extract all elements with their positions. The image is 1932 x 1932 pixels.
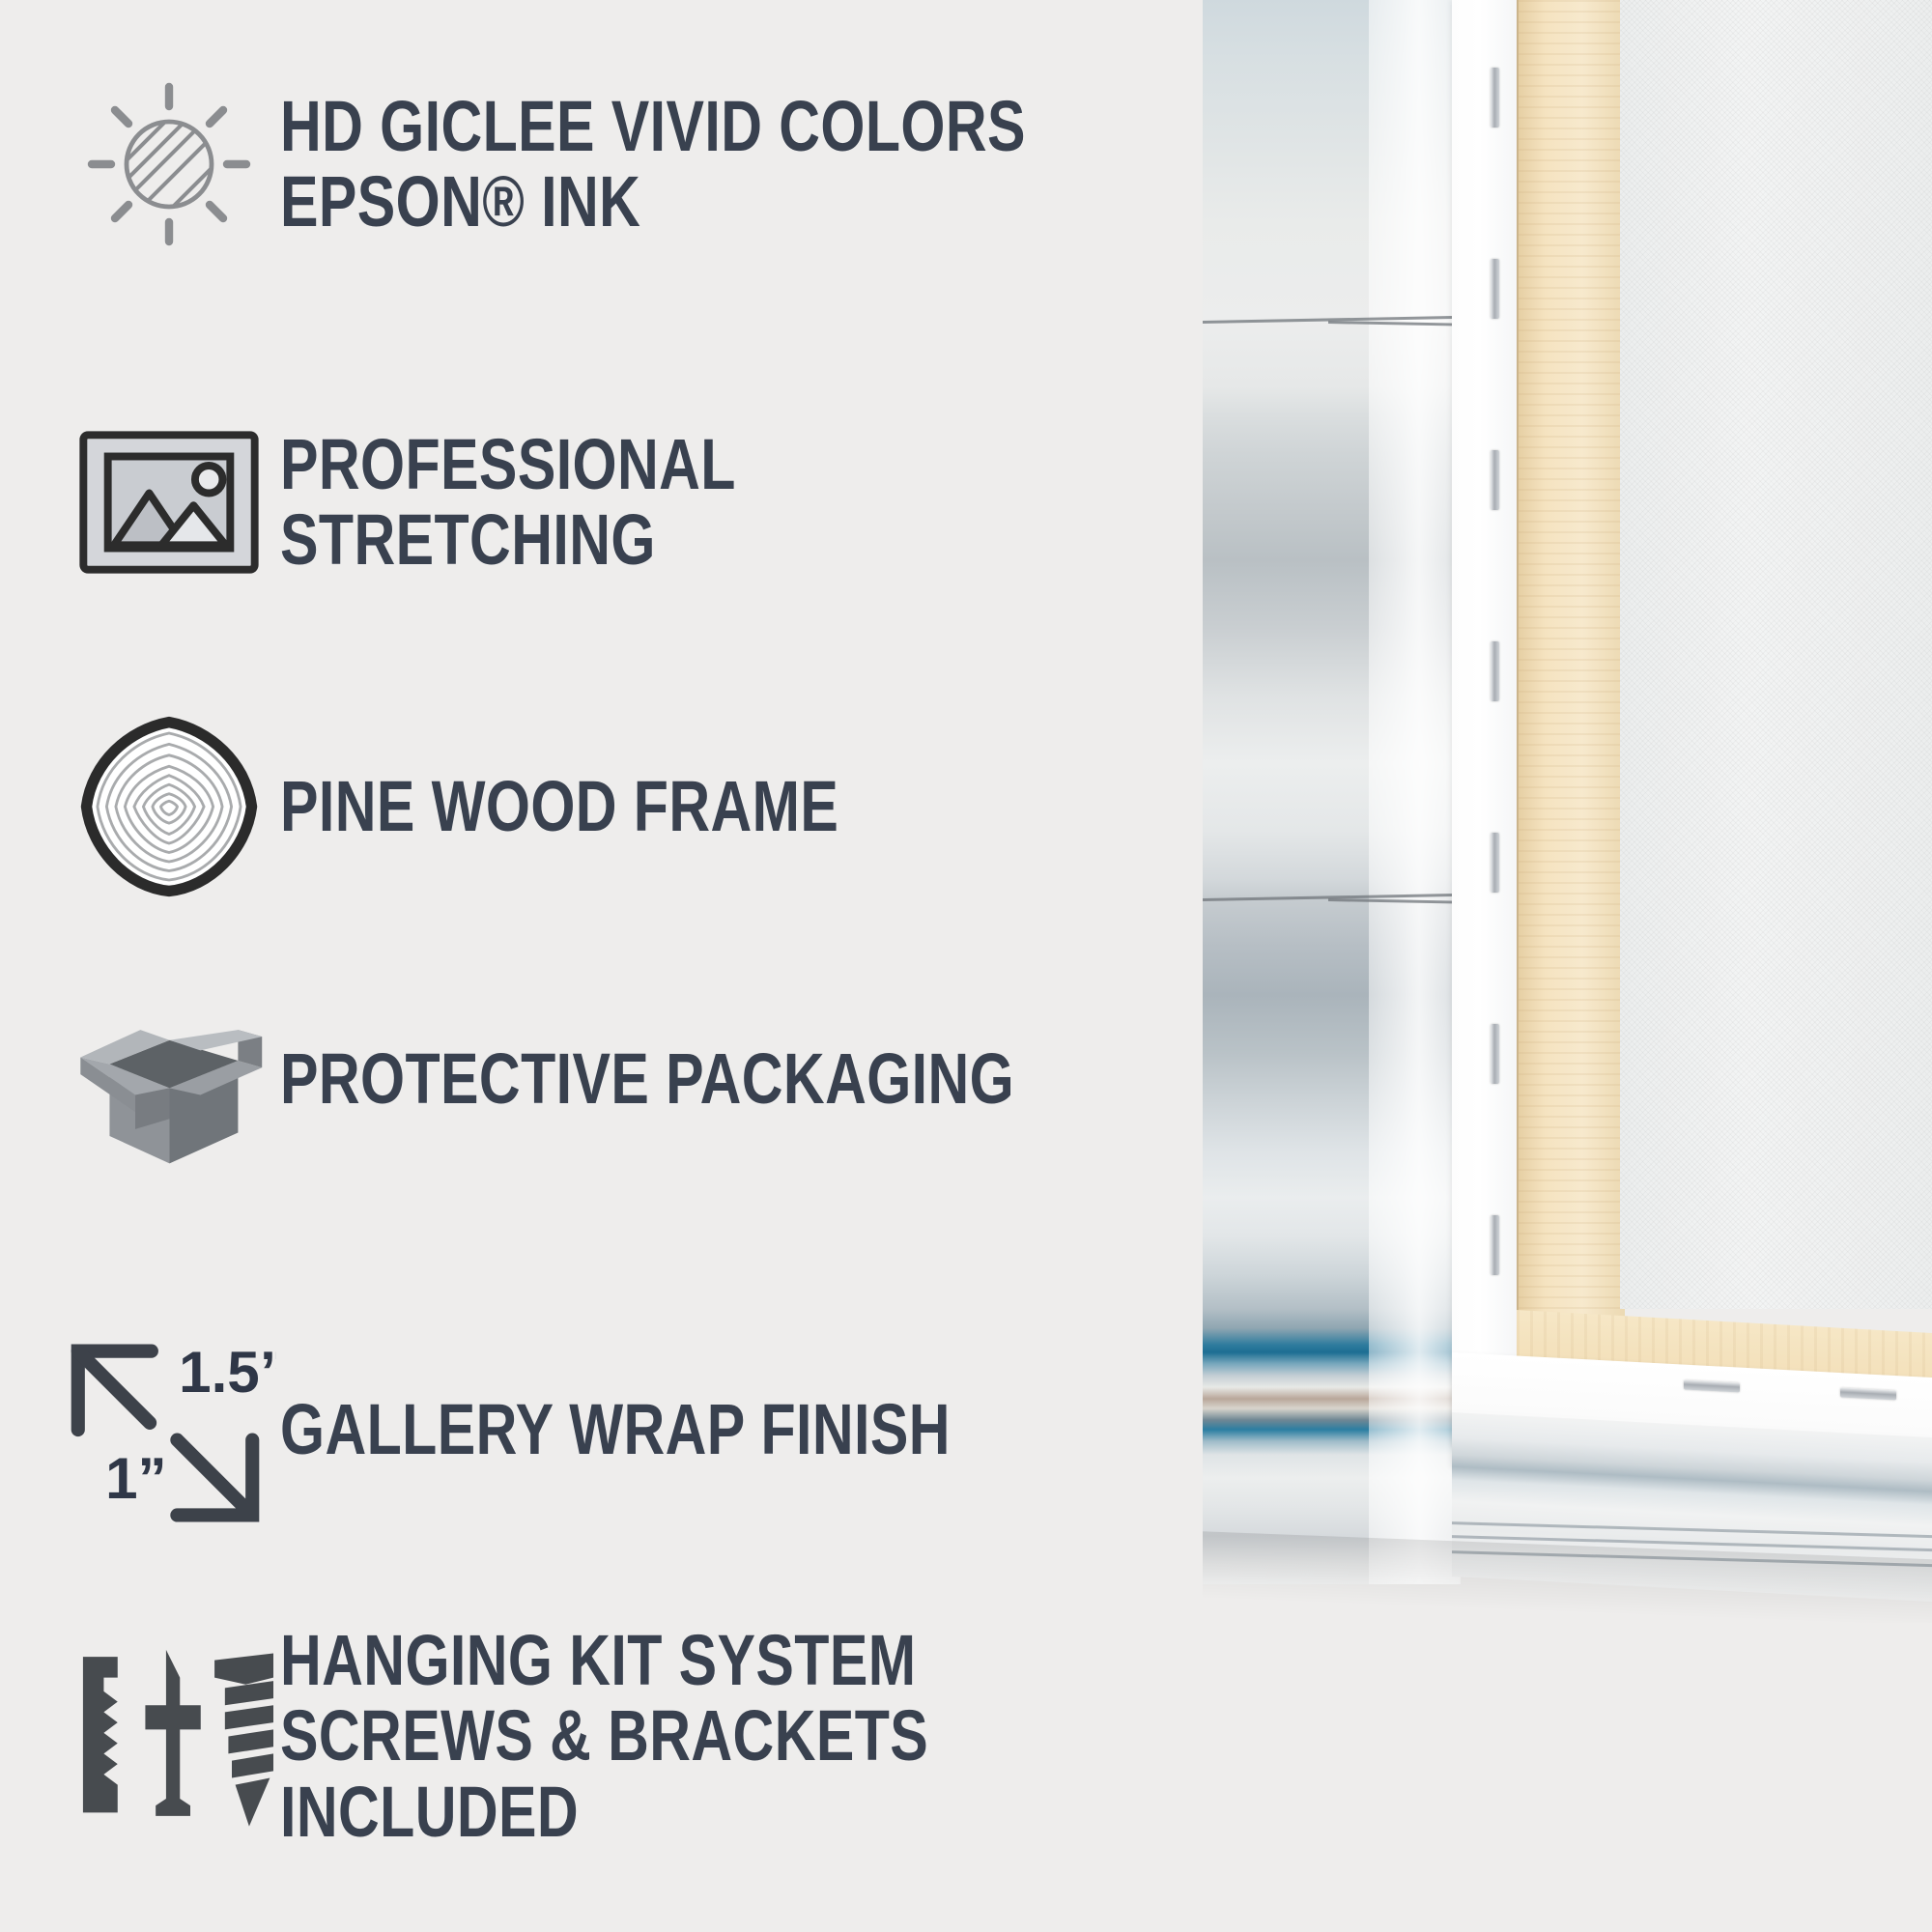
feature-label-packaging: PROTECTIVE PACKAGING	[280, 1041, 1014, 1117]
svg-text:1.5”: 1.5”	[179, 1340, 276, 1405]
feature-row-packaging: PROTECTIVE PACKAGING	[58, 985, 1198, 1174]
staple-icon	[1491, 259, 1499, 319]
framed-picture-icon	[58, 425, 280, 580]
svg-text:1”: 1”	[105, 1446, 167, 1511]
staple-icon	[1491, 1215, 1499, 1275]
staple-icon	[1491, 833, 1499, 893]
canvas-back-fabric	[1620, 0, 1932, 1309]
pine-stretcher-bar-vertical	[1517, 0, 1625, 1370]
feature-row-gallerywrap: 1.5” 1” GALLERY WRAP FINISH	[58, 1323, 1118, 1536]
feature-row-stretching: PROFESSIONAL STRETCHING	[58, 425, 1217, 580]
feature-label-gallerywrap: GALLERY WRAP FINISH	[280, 1392, 951, 1467]
feature-label-hangingkit: HANGING KIT SYSTEM SCREWS & BRACKETS INC…	[280, 1623, 1030, 1850]
tree-rings-icon	[58, 715, 280, 898]
sun-hatched-icon	[58, 68, 280, 261]
hanging-hardware-icon	[58, 1633, 280, 1840]
feature-label-giclee: HD GICLEE VIVID COLORS EPSON® INK	[280, 89, 1026, 241]
feature-label-pinewood: PINE WOOD FRAME	[280, 769, 838, 844]
staple-icon	[1491, 450, 1499, 510]
open-box-icon	[58, 985, 280, 1174]
staple-icon	[1491, 1024, 1499, 1084]
feature-label-stretching: PROFESSIONAL STRETCHING	[280, 427, 1030, 579]
feature-row-pinewood: PINE WOOD FRAME	[58, 715, 979, 898]
canvas-corner-facet	[1369, 0, 1461, 1584]
gallery-wrap-arrows-icon: 1.5” 1”	[58, 1323, 280, 1536]
feature-list: HD GICLEE VIVID COLORS EPSON® INK PROFES…	[0, 0, 1217, 1932]
product-photo	[1203, 0, 1932, 1623]
infographic-canvas: HD GICLEE VIVID COLORS EPSON® INK PROFES…	[0, 0, 1932, 1932]
feature-row-giclee: HD GICLEE VIVID COLORS EPSON® INK	[58, 68, 1212, 261]
staple-icon	[1491, 68, 1499, 128]
feature-row-hangingkit: HANGING KIT SYSTEM SCREWS & BRACKETS INC…	[58, 1623, 1217, 1850]
staple-icon	[1491, 641, 1499, 701]
canvas-wrap-edge	[1452, 0, 1521, 1468]
